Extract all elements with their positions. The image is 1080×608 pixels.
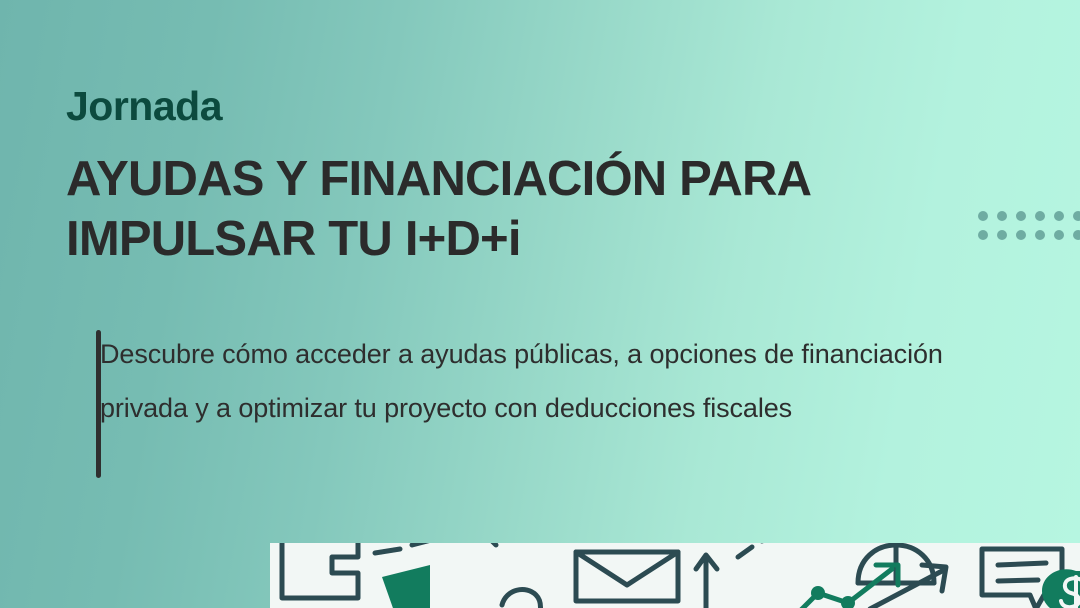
illustration-panel [270, 543, 1080, 608]
circle-doodle [502, 590, 541, 608]
grid-dot [1073, 211, 1080, 221]
speech-bubble-doodle [998, 580, 1038, 581]
line-chart-point [811, 586, 825, 600]
subtitle-block: Descubre cómo acceder a ayudas públicas,… [66, 327, 1000, 435]
eyebrow-label: Jornada [66, 86, 1000, 127]
cursor-triangle-doodle [382, 565, 430, 608]
grid-dot [1016, 230, 1026, 240]
grid-dot [1054, 211, 1064, 221]
poster-banner: Jornada AYUDAS Y FINANCIACIÓN PARA IMPUL… [0, 0, 1080, 608]
page-title: AYUDAS Y FINANCIACIÓN PARA IMPULSAR TU I… [66, 150, 946, 270]
grid-dot [1016, 211, 1026, 221]
grid-dot [1035, 211, 1045, 221]
grid-dot [1054, 230, 1064, 240]
dashed-line-doodle [412, 543, 435, 545]
tick-doodle [488, 543, 496, 545]
grid-dot [1035, 230, 1045, 240]
dashed-line-doodle [375, 549, 400, 553]
subtitle-text: Descubre cómo acceder a ayudas públicas,… [100, 327, 1000, 435]
speech-bubble-doodle [998, 563, 1046, 565]
grid-dot [1073, 230, 1080, 240]
bar-chart-doodle [282, 543, 358, 598]
doodle-illustration-svg [270, 543, 1080, 608]
poster-content: Jornada AYUDAS Y FINANCIACIÓN PARA IMPUL… [0, 0, 1000, 435]
dash-doodle [738, 547, 752, 557]
doodle-accents [382, 565, 1080, 608]
envelope-doodle [576, 552, 678, 585]
accent-bar [96, 330, 101, 478]
